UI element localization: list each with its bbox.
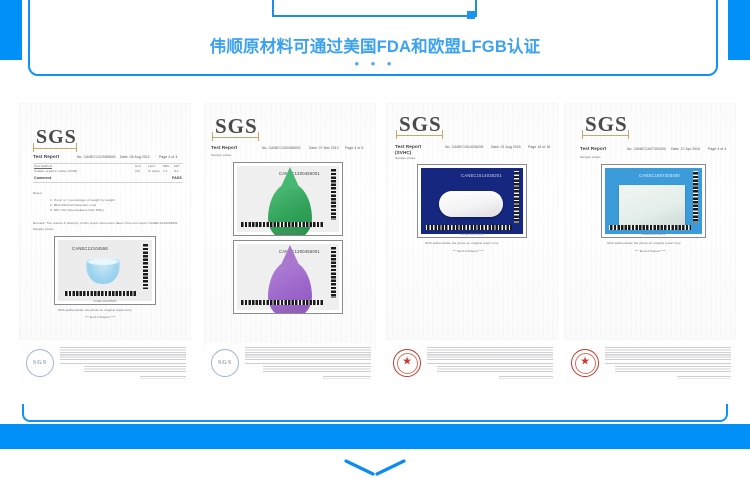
report-subtitle: (SVHC) bbox=[395, 150, 411, 156]
sgs-underline bbox=[212, 137, 259, 138]
report-title: Test Report bbox=[580, 146, 606, 152]
banner: 检测报告 伟顺原材料可通过美国FDA和欧盟LFGB认证 • • • bbox=[0, 0, 750, 82]
certification-section: 检测报告 伟顺原材料可通过美国FDA和欧盟LFGB认证 • • • SGS Te… bbox=[0, 0, 750, 479]
footer-dense-text-3 bbox=[323, 376, 371, 379]
comment-label: Comment bbox=[34, 176, 51, 180]
photo-code: CANEC1607300400 bbox=[639, 173, 680, 178]
photo-caption: CANEC1607300401 bbox=[602, 233, 705, 236]
banner-subtitle: 伟顺原材料可通过美国FDA和欧盟LFGB认证 bbox=[0, 33, 750, 57]
sample-object-pillow bbox=[439, 191, 503, 217]
ruler-horizontal bbox=[64, 291, 136, 296]
sample-photo-1: CANEC1300456001 CANEC1300456001 bbox=[233, 162, 343, 236]
ruler-vertical bbox=[331, 246, 336, 298]
red-seal-icon: ★ bbox=[393, 349, 421, 377]
report-date: Date: 07 Mar 2013 bbox=[309, 146, 339, 150]
sgs-logo: SGS bbox=[585, 112, 628, 137]
report-date: Date: 01 Aug 2015 bbox=[491, 145, 521, 149]
footer-dense-text-2 bbox=[437, 366, 553, 373]
certificate-card-dgccrf[interactable]: SGS Test Report No. CANEC1210455601 Date… bbox=[20, 104, 190, 385]
footer-dense-text bbox=[245, 347, 371, 360]
ruler-vertical bbox=[514, 171, 519, 223]
footer-dense-text-3 bbox=[499, 376, 553, 379]
sgs-tick-right bbox=[628, 130, 629, 139]
unit-value-4: 8.4 bbox=[174, 170, 179, 174]
photo-code: CANEC12104556 bbox=[72, 246, 108, 251]
sgs-underline bbox=[582, 135, 629, 136]
footer-text-block bbox=[605, 347, 731, 381]
photo-caption: CANEC1300456002 bbox=[234, 309, 342, 312]
sample-photo: CANEC12104556 CANEC1210455601 bbox=[54, 236, 156, 305]
certificate-gallery: SGS Test Report No. CANEC1210455601 Date… bbox=[0, 104, 750, 404]
sgs-logo: SGS bbox=[215, 114, 258, 139]
report-page: Page 16 of 16 bbox=[528, 145, 550, 149]
ruler-horizontal bbox=[240, 222, 324, 227]
ruler-horizontal bbox=[426, 225, 512, 230]
authenticate-note: SGS authenticate the photo on original r… bbox=[607, 242, 681, 246]
star-icon: ★ bbox=[580, 356, 590, 367]
end-of-report: *** End of Report *** bbox=[635, 250, 665, 254]
sample-photo-label: Sample photo: bbox=[395, 157, 416, 161]
section-title-box: 检测报告 bbox=[272, 0, 477, 17]
certificate-sheet: SGS Test Report No. CANEC1300456001 Date… bbox=[205, 104, 375, 349]
sample-object-drop-green bbox=[268, 183, 312, 236]
sample-photo-2: CANEC1300456001 CANEC1300456002 bbox=[233, 240, 343, 314]
sgs-seal-icon bbox=[26, 349, 54, 377]
photo-caption: CANEC1514036201 bbox=[418, 233, 526, 236]
sgs-logo: SGS bbox=[36, 126, 77, 149]
star-icon: ★ bbox=[402, 356, 412, 367]
ruler-vertical bbox=[143, 243, 148, 289]
sample-object-bowl bbox=[86, 258, 120, 284]
sgs-tick-right bbox=[442, 130, 443, 139]
photo-background: CANEC1300456001 bbox=[237, 166, 339, 232]
footer-dense-text bbox=[605, 347, 731, 360]
footer-rule bbox=[605, 363, 731, 364]
photo-background: CANEC12104556 bbox=[58, 240, 152, 301]
red-seal-icon: ★ bbox=[571, 349, 599, 377]
certificate-footer bbox=[20, 343, 190, 385]
footer-dense-text-2 bbox=[263, 366, 371, 373]
title-corner-accent bbox=[467, 11, 475, 19]
divider bbox=[33, 163, 183, 164]
footer-dense-text bbox=[427, 347, 553, 360]
sgs-tick-right bbox=[258, 132, 259, 141]
footer-dense-text-3 bbox=[140, 376, 186, 379]
sgs-underline bbox=[396, 135, 443, 136]
footer-text-block bbox=[245, 347, 371, 381]
certificate-card-fda-material[interactable]: SGS Test Report No. CANEC1607300400 Date… bbox=[565, 104, 735, 385]
footer-text-block bbox=[427, 347, 553, 381]
remark: Remark: The results & photo(s) of this r… bbox=[33, 222, 178, 226]
page-title: 检测报告 bbox=[320, 0, 428, 2]
footer-text-block bbox=[60, 347, 186, 381]
ruler-vertical bbox=[331, 168, 336, 220]
report-number: No. CANEC1514036201 bbox=[445, 145, 484, 149]
photo-background: CANEC1300456001 bbox=[237, 244, 339, 310]
footer-dense-text bbox=[60, 347, 186, 360]
sample-photo-label: Sample photo: bbox=[580, 156, 601, 160]
report-title: Test Report bbox=[211, 145, 237, 151]
certificate-footer: ★ bbox=[565, 343, 735, 385]
authenticate-note: SGS authenticate the photo on original r… bbox=[425, 242, 499, 246]
certificate-footer bbox=[205, 343, 375, 385]
photo-code: CANEC1514036201 bbox=[461, 173, 502, 178]
sample-object-drop-purple bbox=[268, 261, 312, 314]
end-of-report: *** End of Report *** bbox=[453, 250, 483, 254]
sgs-seal-icon bbox=[211, 349, 239, 377]
notes-label: Notes: bbox=[33, 192, 43, 196]
footer-dense-text-3 bbox=[677, 376, 731, 379]
sample-object-sheet bbox=[619, 185, 685, 225]
scroll-down-chevron[interactable] bbox=[0, 458, 750, 479]
photo-caption: CANEC1300456001 bbox=[234, 231, 342, 234]
footer-dense-text-2 bbox=[615, 366, 731, 373]
report-title: Test Report bbox=[33, 154, 59, 160]
footer-dense-text-2 bbox=[84, 366, 186, 373]
certificate-sheet: SGS Test Report (SVHC) No. CANEC15140362… bbox=[387, 104, 557, 339]
certificate-card-lfgb-material[interactable]: SGS Test Report (SVHC) No. CANEC15140362… bbox=[387, 104, 557, 385]
certificate-footer: ★ bbox=[387, 343, 557, 385]
sgs-tick-left bbox=[33, 143, 34, 152]
photo-caption: CANEC1210455601 bbox=[55, 300, 155, 303]
sgs-tick-left bbox=[396, 130, 397, 139]
comment-value: PASS bbox=[172, 176, 182, 180]
sgs-tick-right bbox=[76, 143, 77, 152]
unit-value-3: 3.1 bbox=[163, 170, 168, 174]
authenticate-note: SGS authenticate the photo on original r… bbox=[58, 309, 132, 313]
report-date: Date: 05 Aug 2012 bbox=[120, 155, 150, 159]
photo-background: CANEC1607300400 bbox=[605, 168, 702, 234]
sgs-underline bbox=[33, 148, 77, 149]
certificate-card-fda-product[interactable]: SGS Test Report No. CANEC1300456001 Date… bbox=[205, 104, 375, 385]
sample-photo-label: Sample photo: bbox=[211, 154, 232, 158]
divider-2 bbox=[33, 182, 183, 183]
decorative-dots: • • • bbox=[0, 57, 750, 70]
sgs-tick-left bbox=[582, 130, 583, 139]
report-page: Page 4 of 4 bbox=[708, 147, 726, 151]
report-title: Test Report bbox=[395, 144, 421, 150]
section-bottom-frame bbox=[22, 404, 728, 422]
ruler-vertical bbox=[693, 171, 698, 223]
report-number: No. CANEC1300456001 bbox=[262, 146, 301, 150]
end-of-report: *** End of Report *** bbox=[85, 316, 115, 320]
sgs-logo: SGS bbox=[399, 112, 442, 137]
report-number: No. CANEC1607300400 bbox=[627, 147, 666, 151]
report-number: No. CANEC1210455601 bbox=[77, 155, 116, 159]
certificate-sheet: SGS Test Report No. CANEC1210455601 Date… bbox=[20, 104, 190, 339]
sample-photo: CANEC1607300400 CANEC1607300401 bbox=[601, 164, 706, 238]
report-date: Date: 27 Apr 2016 bbox=[671, 147, 700, 151]
ruler-horizontal bbox=[240, 300, 324, 305]
footer-rule bbox=[60, 363, 186, 364]
unit-value-2: % (w/w) bbox=[148, 170, 160, 174]
report-page: Page 4 of 5 bbox=[345, 146, 363, 150]
sgs-tick-left bbox=[212, 132, 213, 141]
ruler-horizontal bbox=[609, 225, 691, 230]
unit-value-1: (%) bbox=[135, 170, 140, 174]
sample-photo: CANEC1514036201 CANEC1514036201 bbox=[417, 164, 527, 238]
test-method-sub: Volatile organic matter (VOM) bbox=[34, 170, 77, 174]
note-3: 3. ND= Not Detected(less than MDL) bbox=[50, 209, 104, 213]
photo-background: CANEC1514036201 bbox=[421, 168, 523, 234]
sample-photo-label: Sample photo: bbox=[33, 228, 54, 232]
footer-rule bbox=[427, 363, 553, 364]
certificate-sheet: SGS Test Report No. CANEC1607300400 Date… bbox=[565, 104, 735, 339]
report-page: Page 4 of 4 bbox=[159, 155, 177, 159]
bottom-blue-band bbox=[0, 424, 750, 449]
footer-rule bbox=[245, 363, 371, 364]
